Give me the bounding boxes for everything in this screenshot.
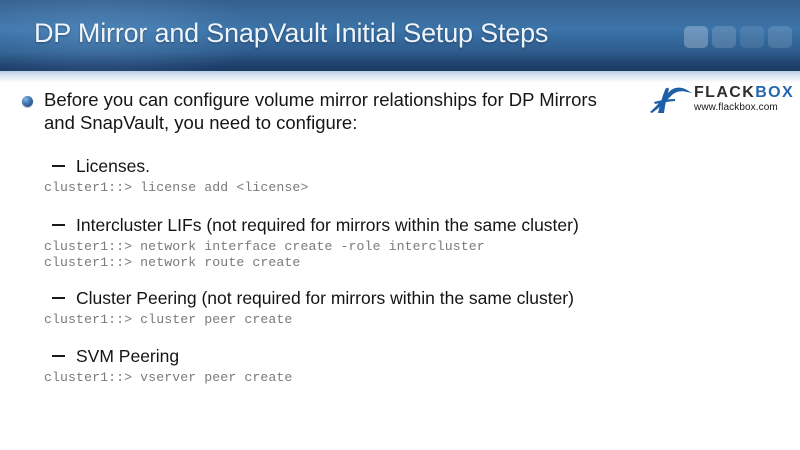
step-row: Licenses. — [0, 156, 800, 177]
step-title: SVM Peering — [76, 346, 596, 367]
flackbox-mark-icon — [648, 85, 694, 115]
command-line: cluster1::> network interface create -ro… — [0, 239, 800, 256]
lead-paragraph: Before you can configure volume mirror r… — [44, 88, 604, 134]
step-commands: cluster1::> network interface create -ro… — [0, 239, 800, 272]
slide-header: DP Mirror and SnapVault Initial Setup St… — [0, 0, 800, 71]
logo-flack-text: FLACK — [694, 84, 755, 101]
step-commands: cluster1::> cluster peer create — [0, 312, 800, 329]
command-line: cluster1::> license add <license> — [0, 180, 800, 197]
command-line: cluster1::> network route create — [0, 255, 800, 272]
dash-bullet-icon — [52, 297, 65, 299]
step-title: Intercluster LIFs (not required for mirr… — [76, 215, 596, 236]
list-item: SVM Peering cluster1::> vserver peer cre… — [0, 346, 800, 387]
decoration-square-4-icon — [768, 26, 792, 48]
dash-bullet-icon — [52, 355, 65, 357]
command-line: cluster1::> vserver peer create — [0, 370, 800, 387]
setup-steps-list: Licenses. cluster1::> license add <licen… — [0, 156, 800, 399]
lead-bullet-icon — [22, 96, 33, 107]
dash-bullet-icon — [52, 165, 65, 167]
step-title: Licenses. — [76, 156, 596, 177]
logo-box-text: BOX — [755, 84, 794, 101]
decoration-square-3-icon — [740, 26, 764, 48]
header-fade-strip — [0, 71, 800, 83]
step-title: Cluster Peering (not required for mirror… — [76, 288, 596, 309]
decoration-square-1-icon — [684, 26, 708, 48]
command-line: cluster1::> cluster peer create — [0, 312, 800, 329]
list-item: Licenses. cluster1::> license add <licen… — [0, 156, 800, 197]
step-commands: cluster1::> vserver peer create — [0, 370, 800, 387]
flackbox-wordmark: FLACKBOX www.flackbox.com — [694, 84, 794, 114]
logo-url-text: www.flackbox.com — [694, 102, 794, 114]
list-item: Cluster Peering (not required for mirror… — [0, 288, 800, 329]
step-row: SVM Peering — [0, 346, 800, 367]
list-item: Intercluster LIFs (not required for mirr… — [0, 215, 800, 272]
slide: DP Mirror and SnapVault Initial Setup St… — [0, 0, 800, 450]
step-row: Cluster Peering (not required for mirror… — [0, 288, 800, 309]
step-row: Intercluster LIFs (not required for mirr… — [0, 215, 800, 236]
dash-bullet-icon — [52, 224, 65, 226]
flackbox-name: FLACKBOX — [694, 84, 794, 101]
decoration-square-2-icon — [712, 26, 736, 48]
header-decoration-squares — [684, 26, 792, 48]
step-commands: cluster1::> license add <license> — [0, 180, 800, 197]
page-title: DP Mirror and SnapVault Initial Setup St… — [34, 13, 548, 53]
flackbox-logo: FLACKBOX www.flackbox.com — [648, 84, 794, 118]
